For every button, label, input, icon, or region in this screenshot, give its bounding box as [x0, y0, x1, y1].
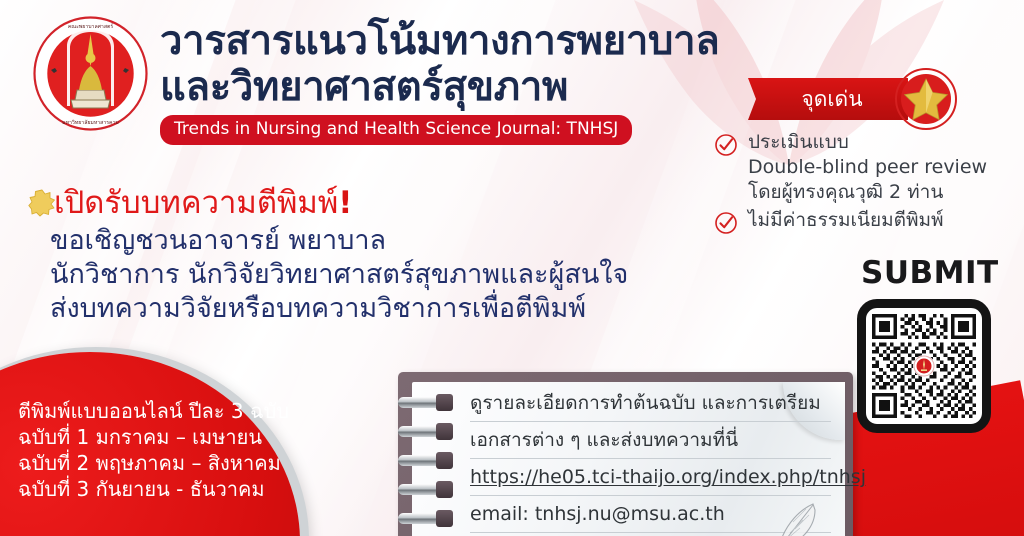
check-circle-icon	[714, 133, 738, 157]
university-logo: คณะพยาบาลศาสตร์ มหาวิทยาลัยมหาสารคาม	[33, 16, 148, 131]
journal-title-line-1: วารสารแนวโน้มทางการพยาบาล	[160, 18, 780, 64]
svg-text:คณะพยาบาลศาสตร์: คณะพยาบาลศาสตร์	[68, 23, 114, 30]
highlight-item-text: ไม่มีค่าธรรมเนียมตีพิมพ์	[748, 208, 944, 233]
spiral-ring	[398, 396, 454, 409]
notebook-spiral-binding	[398, 396, 458, 536]
spiral-ring	[398, 454, 454, 467]
poster-canvas: คณะพยาบาลศาสตร์ มหาวิทยาลัยมหาสารคาม วาร…	[0, 0, 1024, 536]
publication-schedule-line: ฉบับที่ 2 พฤษภาคม – สิงหาคม	[18, 450, 289, 476]
call-for-papers-line: นักวิชาการ นักวิจัยวิทยาศาสตร์สุขภาพและผ…	[50, 258, 628, 292]
gold-star-icon	[895, 68, 957, 130]
highlight-item: ประเมินแบบ Double-blind peer review โดยผ…	[714, 130, 1024, 205]
highlight-item-text: ประเมินแบบ Double-blind peer review โดยผ…	[748, 130, 987, 205]
journal-title-line-2: และวิทยาศาสตร์สุขภาพ	[160, 64, 780, 110]
submit-label: SUBMIT	[861, 258, 999, 289]
highlights-ribbon-label: จุดเด่น	[793, 89, 862, 110]
call-for-papers-body: ขอเชิญชวนอาจารย์ พยาบาล นักวิชาการ นักวิ…	[50, 224, 628, 326]
call-for-papers-line: ส่งบทความวิจัยหรือบทความวิชาการเพื่อตีพิ…	[50, 292, 628, 326]
check-circle-icon	[714, 211, 738, 235]
notebook-instruction-line: ดูรายละเอียดการทำต้นฉบับ และการเตรียม	[470, 394, 831, 422]
submission-url-link[interactable]: https://he05.tci-thaijo.org/index.php/tn…	[470, 468, 831, 496]
publication-schedule-line: ฉบับที่ 3 กันยายน - ธันวาคม	[18, 476, 289, 502]
notebook-instruction-line: เอกสารต่าง ๆ และส่งบทความที่นี่	[470, 431, 831, 459]
highlight-item: ไม่มีค่าธรรมเนียมตีพิมพ์	[714, 208, 1024, 235]
highlight-line: ไม่มีค่าธรรมเนียมตีพิมพ์	[748, 208, 944, 233]
publication-schedule: ตีพิมพ์แบบออนไลน์ ปีละ 3 ฉบับ ฉบับที่ 1 …	[18, 398, 289, 502]
qr-code-canvas	[872, 314, 976, 418]
highlight-line: โดยผู้ทรงคุณวุฒิ 2 ท่าน	[748, 180, 987, 205]
qr-center-logo	[913, 355, 935, 377]
call-for-papers-block: เปิดรับบทความตีพิมพ์! ขอเชิญชวนอาจารย์ พ…	[28, 186, 628, 326]
spiral-ring	[398, 512, 454, 525]
notebook-card: ดูรายละเอียดการทำต้นฉบับ และการเตรียม เอ…	[398, 372, 853, 536]
highlight-line: ประเมินแบบ	[748, 130, 987, 155]
publication-schedule-line: ฉบับที่ 1 มกราคม – เมษายน	[18, 424, 289, 450]
spiral-ring	[398, 425, 454, 438]
starburst-icon	[28, 189, 56, 217]
call-for-papers-line: ขอเชิญชวนอาจารย์ พยาบาล	[50, 224, 628, 258]
highlights-list: ประเมินแบบ Double-blind peer review โดยผ…	[714, 130, 1024, 238]
journal-subtitle-pill: Trends in Nursing and Health Science Jou…	[160, 115, 632, 145]
svg-text:มหาวิทยาลัยมหาสารคาม: มหาวิทยาลัยมหาสารคาม	[62, 119, 119, 126]
journal-title-block: วารสารแนวโน้มทางการพยาบาล และวิทยาศาสตร์…	[160, 18, 780, 145]
spiral-ring	[398, 483, 454, 496]
highlights-ribbon: จุดเด่น	[748, 78, 908, 120]
university-seal-icon	[913, 355, 935, 377]
call-for-papers-headline-row: เปิดรับบทความตีพิมพ์!	[28, 186, 628, 220]
qr-code[interactable]	[857, 299, 991, 433]
highlight-line: Double-blind peer review	[748, 155, 987, 180]
publication-schedule-line: ตีพิมพ์แบบออนไลน์ ปีละ 3 ฉบับ	[18, 398, 289, 424]
call-for-papers-exclamation: !	[338, 185, 352, 221]
call-for-papers-headline-text: เปิดรับบทความตีพิมพ์	[54, 185, 338, 221]
feather-quill-icon	[773, 500, 819, 536]
call-for-papers-headline: เปิดรับบทความตีพิมพ์!	[54, 186, 352, 220]
